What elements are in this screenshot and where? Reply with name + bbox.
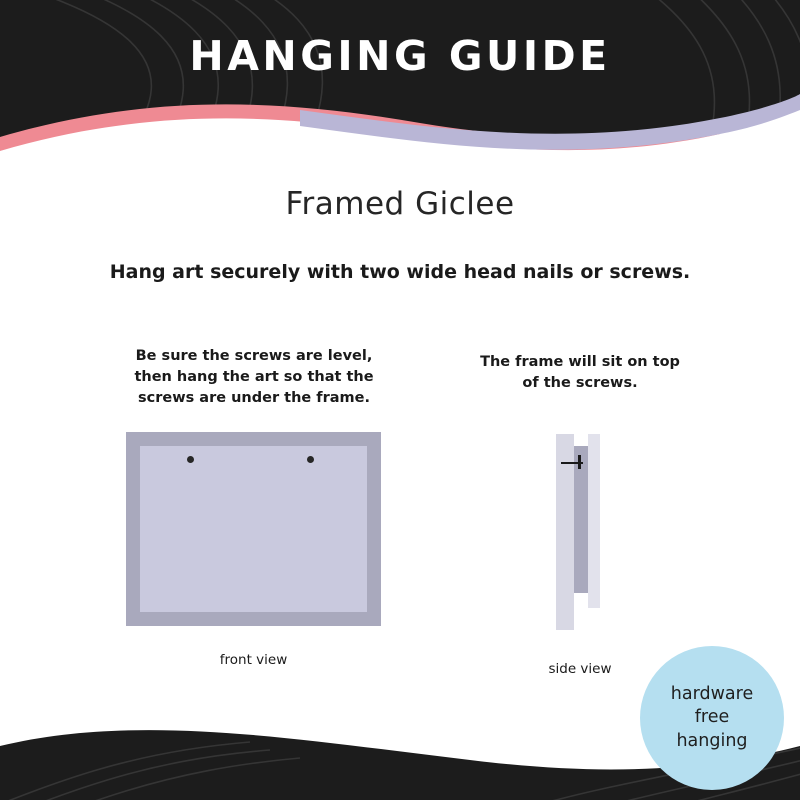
side-caption-line-2: of the screws. — [522, 375, 637, 391]
front-view-artwork-area — [140, 446, 367, 612]
hardware-free-hanging-badge: hardware free hanging — [640, 646, 784, 790]
side-view-caption: The frame will sit on top of the screws. — [462, 352, 698, 394]
badge-line-1: hardware — [671, 683, 753, 706]
instruction-subtitle: Hang art securely with two wide head nai… — [0, 261, 800, 283]
front-caption-line-1: Be sure the screws are level, — [136, 348, 373, 364]
front-view-label: front view — [126, 652, 381, 668]
side-caption-line-1: The frame will sit on top — [480, 354, 680, 370]
side-view-frame-back — [574, 446, 588, 593]
front-view-caption: Be sure the screws are level, then hang … — [126, 346, 382, 409]
top-decorative-band — [0, 0, 800, 160]
top-band-graphic — [0, 0, 800, 160]
side-view-screw-head-icon — [578, 455, 581, 469]
product-title: Framed Giclee — [0, 186, 800, 222]
badge-line-3: hanging — [676, 730, 747, 753]
hanging-guide-page: HANGING GUIDE Framed Giclee Hang art sec… — [0, 0, 800, 800]
page-title: HANGING GUIDE — [0, 32, 800, 80]
front-caption-line-2: then hang the art so that the — [134, 369, 373, 385]
side-view-frame-front — [588, 434, 600, 608]
badge-line-2: free — [695, 706, 730, 729]
front-caption-line-3: screws are under the frame. — [138, 390, 370, 406]
screw-dot-left-icon — [187, 456, 194, 463]
front-view-frame-diagram — [126, 432, 381, 626]
screw-dot-right-icon — [307, 456, 314, 463]
